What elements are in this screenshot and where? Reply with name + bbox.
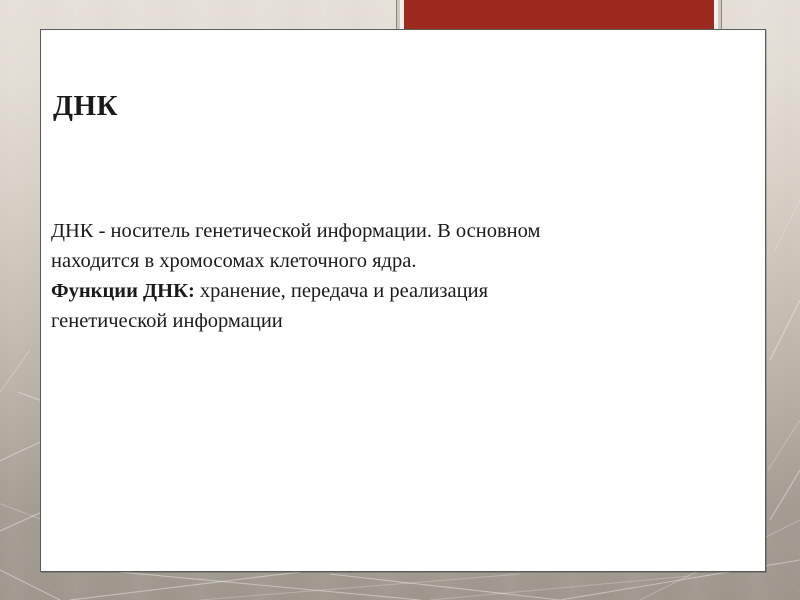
functions-label: Функции ДНК: bbox=[51, 280, 195, 302]
body-line-2: находится в хромосомах клеточного ядра. bbox=[51, 246, 735, 276]
body-line-3: Функции ДНК: хранение, передача и реализ… bbox=[51, 276, 735, 306]
body-line-4: генетической информации bbox=[51, 306, 735, 336]
slide-content-card: ДНК ДНК - носитель генетической информац… bbox=[40, 29, 766, 572]
page-title: ДНК bbox=[53, 91, 118, 123]
body-line-1: ДНК - носитель генетической информации. … bbox=[51, 216, 735, 246]
functions-value: хранение, передача и реализация bbox=[195, 280, 488, 302]
slide-body-text: ДНК - носитель генетической информации. … bbox=[51, 216, 735, 336]
presentation-slide: ДНК ДНК - носитель генетической информац… bbox=[0, 0, 800, 600]
